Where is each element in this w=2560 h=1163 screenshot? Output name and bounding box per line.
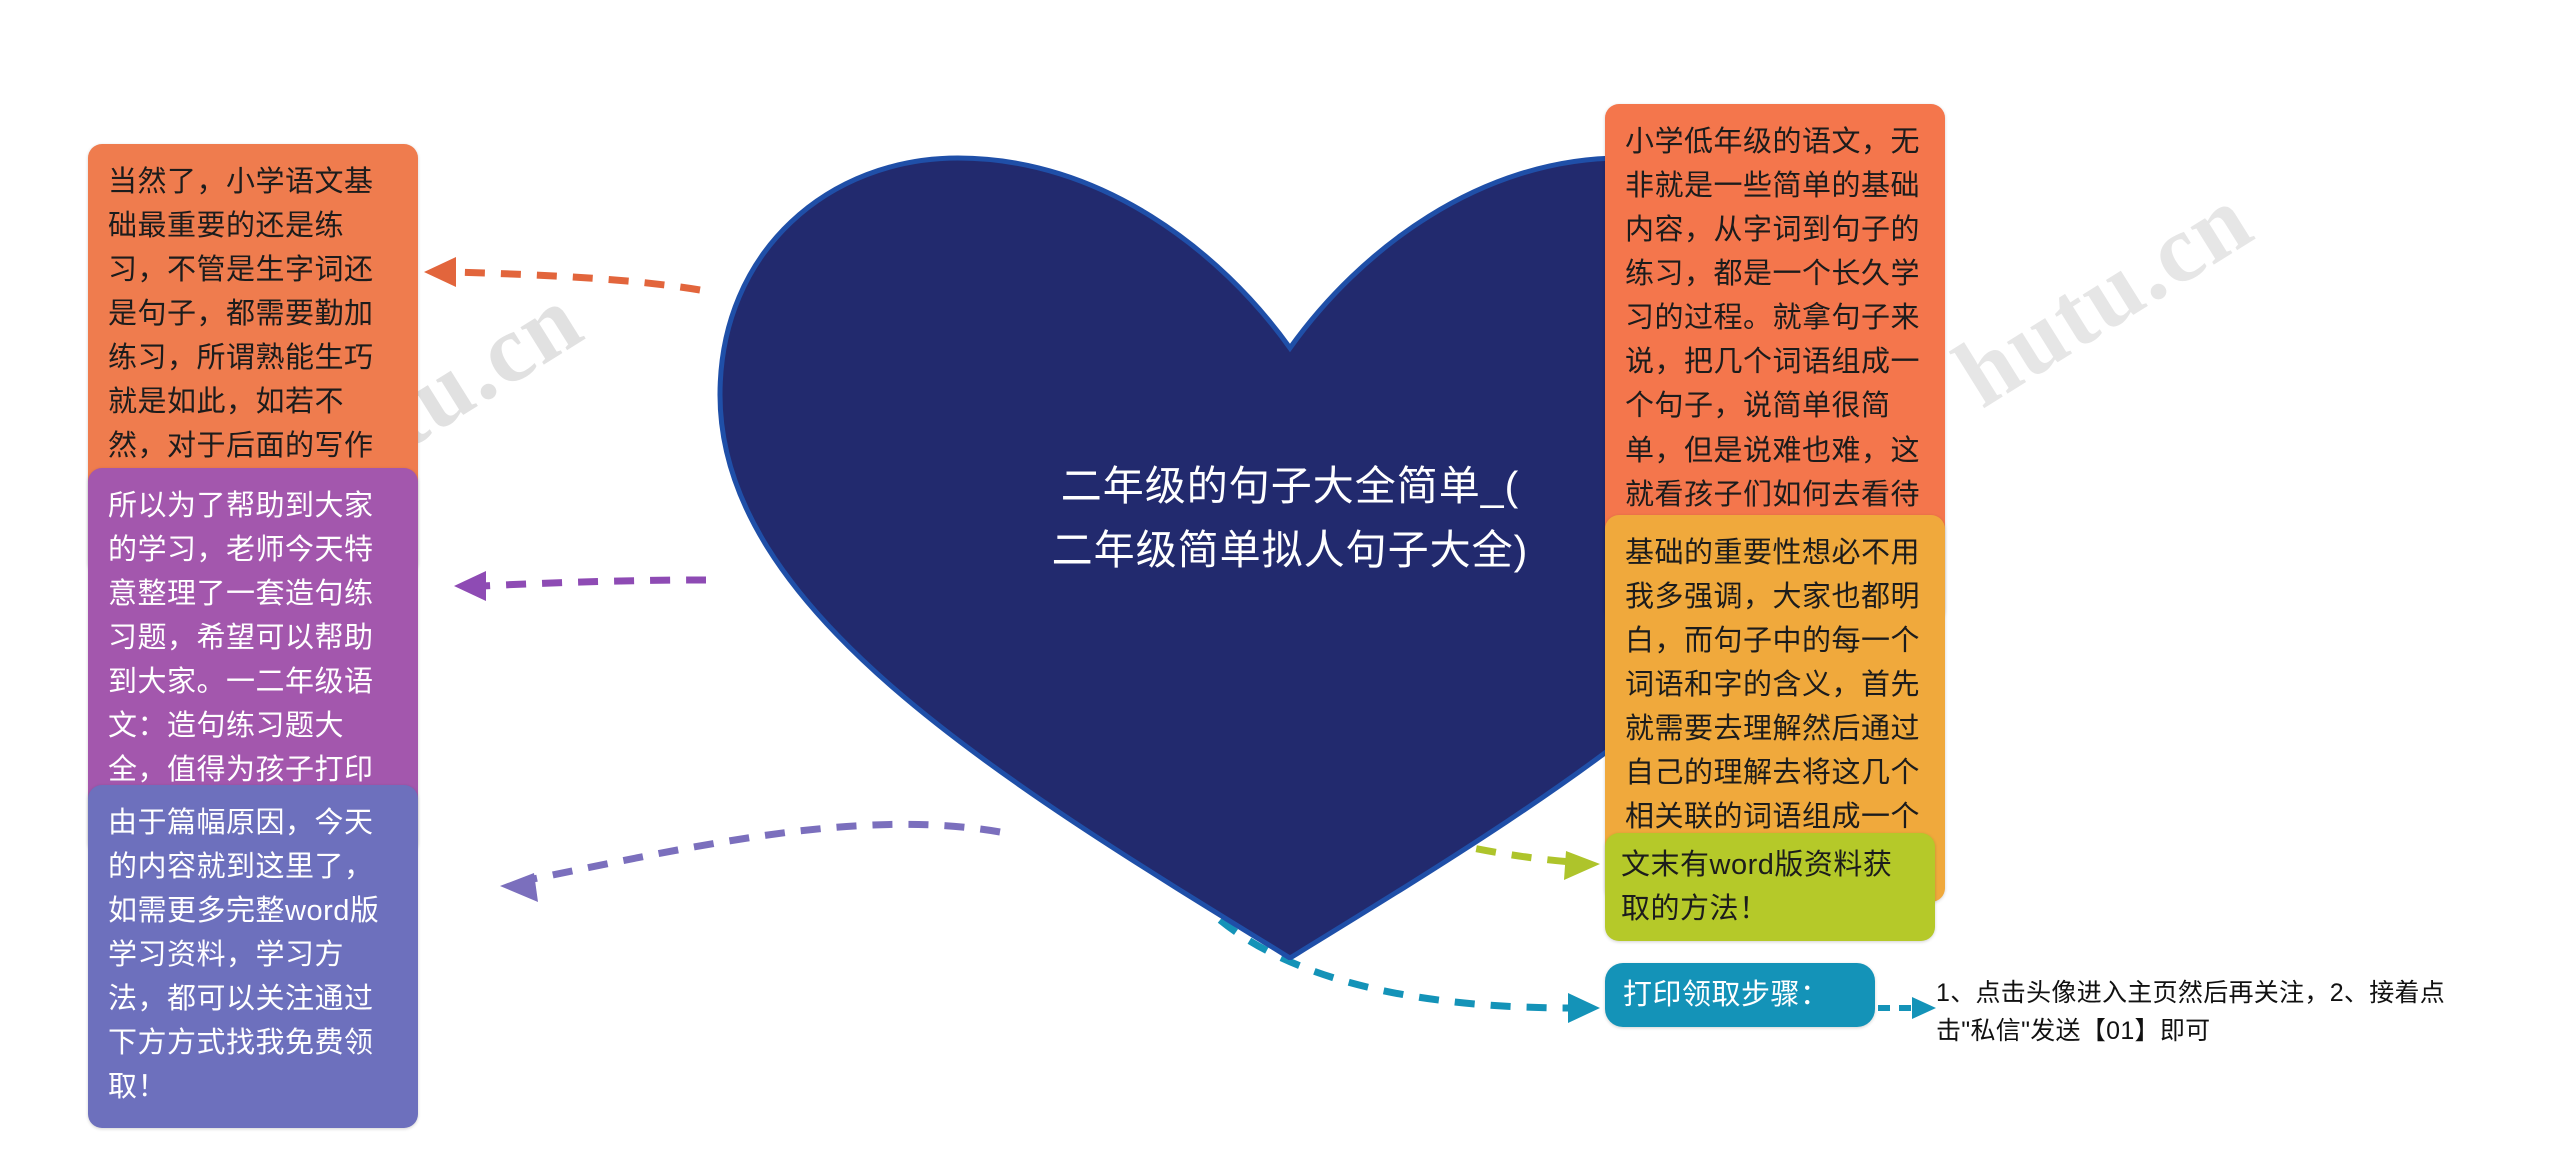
node-left-followup[interactable]: 由于篇幅原因，今天的内容就到这里了，如需更多完整word版学习资料，学习方法，都…: [88, 785, 418, 1128]
mindmap-canvas: hutu.cn hutu.cn hutu.cn: [0, 0, 2560, 1163]
connector-left-exercise-set: [454, 571, 706, 601]
node-right-word-note[interactable]: 文末有word版资料获取的方法！: [1605, 833, 1935, 941]
watermark-right-top: hutu.cn: [1935, 162, 2270, 429]
node-right-print-steps[interactable]: 打印领取步骤：: [1605, 963, 1875, 1027]
connector-print-steps-detail: [1878, 997, 1936, 1019]
connector-left-practice: [424, 257, 700, 290]
print-steps-detail-text: 1、点击头像进入主页然后再关注，2、接着点击"私信"发送【01】即可: [1936, 975, 2481, 1050]
